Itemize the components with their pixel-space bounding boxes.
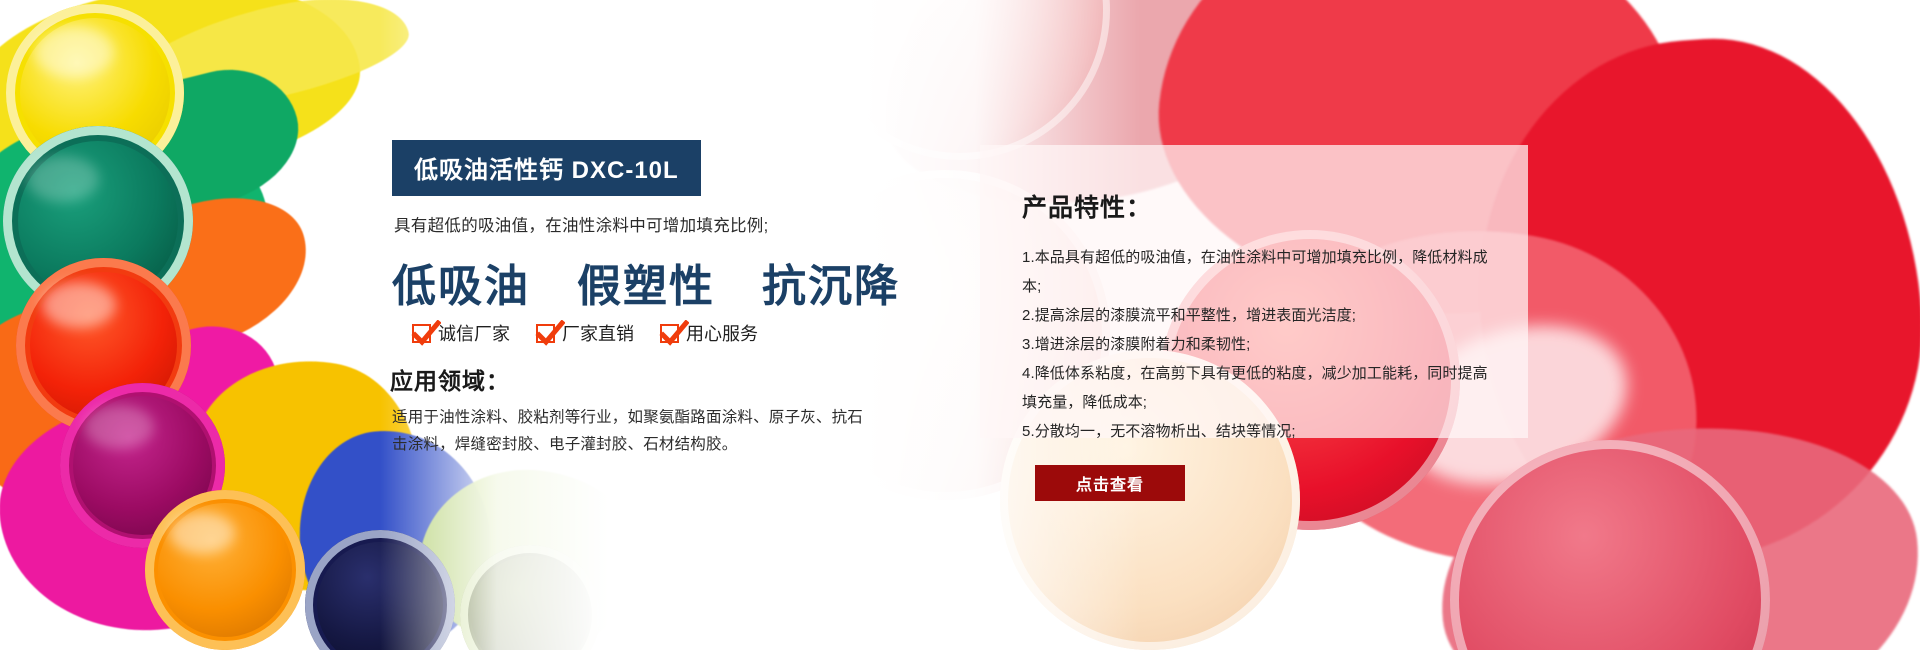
headline-word-3: 抗沉降 bbox=[762, 262, 900, 311]
banner-content: 低吸油活性钙 DXC-10L 具有超低的吸油值，在油性涂料中可增加填充比例; 低… bbox=[0, 0, 1920, 650]
trust-tag-2: 厂家直销 bbox=[536, 320, 634, 346]
feature-item: 4.降低体系粘度，在高剪下具有更低的粘度，减少加工能耗，同时提高填充量，降低成本… bbox=[1022, 359, 1502, 417]
trust-tag-label: 诚信厂家 bbox=[438, 320, 510, 346]
application-description: 适用于油性涂料、胶粘剂等行业，如聚氨酯路面涂料、原子灰、抗石击涂料，焊缝密封胶、… bbox=[392, 404, 878, 458]
headline-word-1: 低吸油 bbox=[392, 262, 530, 311]
trust-tag-label: 厂家直销 bbox=[562, 320, 634, 346]
check-box-icon bbox=[536, 324, 555, 343]
features-panel-title: 产品特性： bbox=[1022, 188, 1152, 224]
application-title: 应用领域： bbox=[390, 362, 510, 396]
view-details-button[interactable]: 点击查看 bbox=[1035, 465, 1185, 501]
check-box-icon bbox=[660, 324, 679, 343]
product-subline: 具有超低的吸油值，在油性涂料中可增加填充比例; bbox=[394, 212, 768, 236]
headline-keywords: 低吸油 假塑性 抗沉降 bbox=[392, 250, 900, 314]
promo-banner: 低吸油活性钙 DXC-10L 具有超低的吸油值，在油性涂料中可增加填充比例; 低… bbox=[0, 0, 1920, 650]
trust-tag-list: 诚信厂家 厂家直销 用心服务 bbox=[412, 320, 758, 346]
check-box-icon bbox=[412, 324, 431, 343]
feature-item: 5.分散均一，无不溶物析出、结块等情况; bbox=[1022, 417, 1502, 446]
trust-tag-label: 用心服务 bbox=[686, 320, 758, 346]
feature-item: 1.本品具有超低的吸油值，在油性涂料中可增加填充比例，降低材料成本; bbox=[1022, 243, 1502, 301]
trust-tag-3: 用心服务 bbox=[660, 320, 758, 346]
trust-tag-1: 诚信厂家 bbox=[412, 320, 510, 346]
headline-word-2: 假塑性 bbox=[577, 262, 715, 311]
features-list: 1.本品具有超低的吸油值，在油性涂料中可增加填充比例，降低材料成本; 2.提高涂… bbox=[1022, 243, 1502, 446]
feature-item: 2.提高涂层的漆膜流平和平整性，增进表面光洁度; bbox=[1022, 301, 1502, 330]
feature-item: 3.增进涂层的漆膜附着力和柔韧性; bbox=[1022, 330, 1502, 359]
product-title-badge: 低吸油活性钙 DXC-10L bbox=[392, 140, 701, 196]
